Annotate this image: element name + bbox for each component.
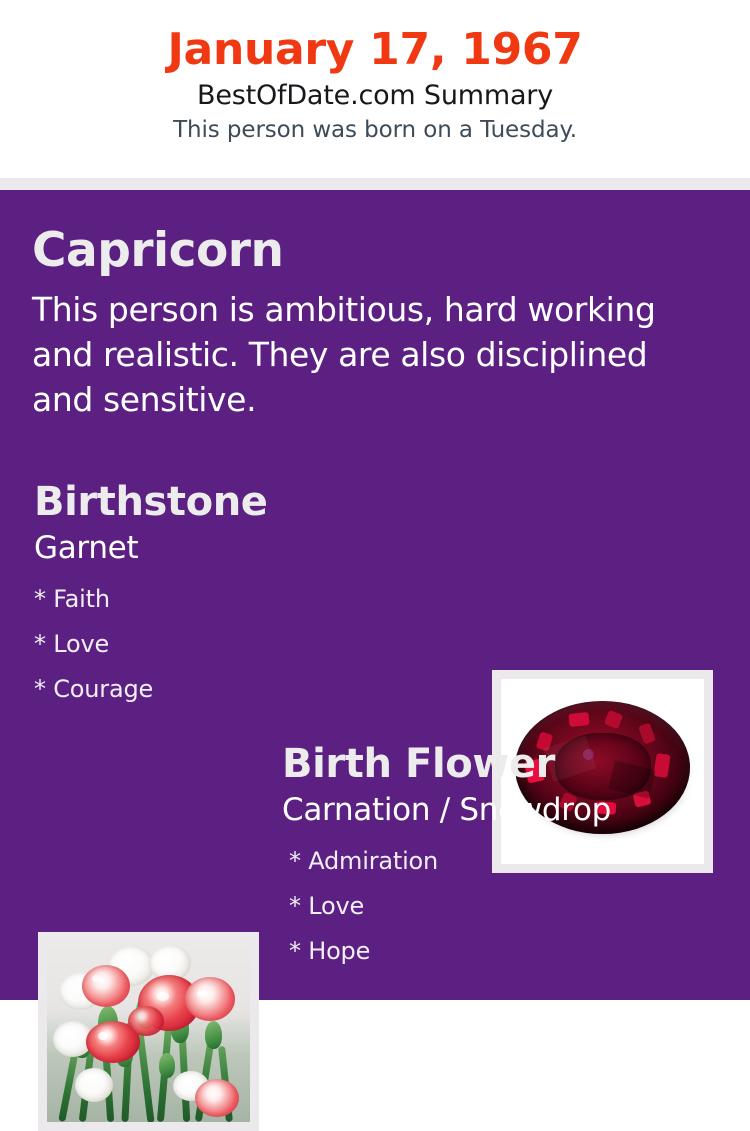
birthstone-trait-list: * Faith * Love * Courage	[34, 577, 474, 712]
page-title-date: January 17, 1967	[0, 22, 750, 78]
birthflower-name: Carnation / Snowdrop	[282, 790, 732, 830]
birthday-summary-card: January 17, 1967 BestOfDate.com Summary …	[0, 0, 750, 1000]
born-day-note: This person was born on a Tuesday.	[0, 114, 750, 146]
content-panel: Capricorn This person is ambitious, hard…	[0, 190, 750, 1000]
card-header: January 17, 1967 BestOfDate.com Summary …	[0, 0, 750, 178]
header-divider	[0, 178, 750, 190]
list-item: * Admiration	[282, 839, 732, 884]
list-item: * Faith	[34, 577, 474, 622]
list-item: * Love	[34, 622, 474, 667]
birthflower-section: Birth Flower Carnation / Snowdrop * Admi…	[282, 740, 732, 974]
birthflower-image-frame	[38, 932, 259, 1131]
site-summary-label: BestOfDate.com Summary	[0, 78, 750, 114]
carnation-bouquet-icon	[47, 941, 250, 1122]
list-item: * Hope	[282, 929, 732, 974]
birthstone-section: Birthstone Garnet * Faith * Love * Coura…	[34, 478, 474, 712]
zodiac-section: Capricorn This person is ambitious, hard…	[32, 223, 692, 422]
birthstone-title: Birthstone	[34, 478, 474, 526]
birthflower-title: Birth Flower	[282, 740, 732, 788]
list-item: * Courage	[34, 667, 474, 712]
birthflower-image	[47, 941, 250, 1122]
zodiac-sign-name: Capricorn	[32, 223, 692, 279]
birthflower-trait-list: * Admiration * Love * Hope	[282, 839, 732, 974]
list-item: * Love	[282, 884, 732, 929]
zodiac-description: This person is ambitious, hard working a…	[32, 287, 667, 422]
birthstone-name: Garnet	[34, 528, 474, 568]
